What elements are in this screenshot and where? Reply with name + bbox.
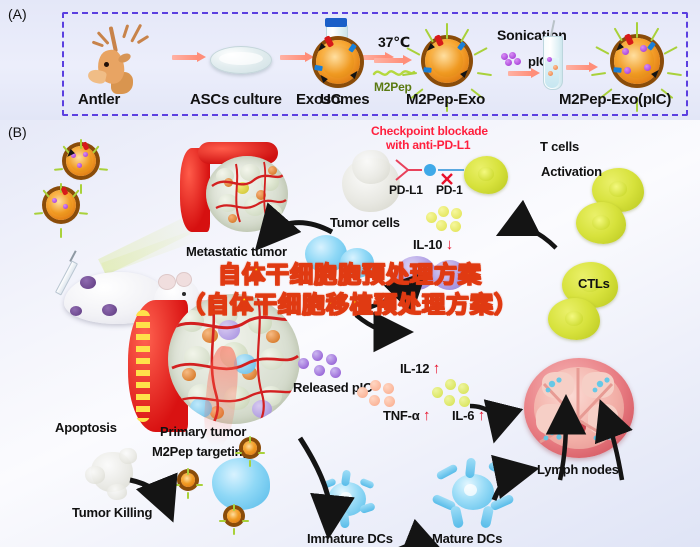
panel-a-tag: (A) [8,6,27,22]
m1-macrophage-2 [432,260,466,290]
il-6-dots-icon [430,378,486,408]
m2-macrophage-2 [340,248,374,278]
metastatic-tumor-label: Metastatic tumor [186,245,287,258]
step-label-exosomes: Exosomes [296,92,369,107]
mature-dc-icon [430,458,516,532]
il-10-name: IL-10 [413,237,442,252]
immature-dcs-label: Immature DCs [307,532,393,545]
arrow-sonication-to-final [566,62,598,72]
arrow-antler-to-asc [172,52,206,62]
activation-label: Activation [541,165,602,178]
t-cell-cluster-2 [576,202,626,244]
tnf-alpha-arrow: ↑ [423,407,430,424]
apoptotic-cell-icon [85,446,145,502]
il-10-arrow: ↓ [446,236,453,253]
free-exosome-icon-2 [38,182,84,228]
metastatic-tumor-icon [178,142,308,250]
panel-a: (A) Antler ASCs culture [0,0,700,120]
il-6-name: IL-6 [452,408,474,423]
step-label-m2pep-exo: M2Pep-Exo [406,92,485,107]
il10-dots-icon [424,204,470,232]
il-12-arrow: ↑ [433,360,440,377]
ctl-cell-2 [548,298,600,340]
arrow-exo-to-m2pepexo [374,55,412,65]
immature-dc-icon [312,468,382,530]
pd-1-label: PD-1 [436,184,463,196]
step-label-m2pep-exo-pic: M2Pep-Exo(pIC) [559,92,671,107]
apoptosis-label: Apoptosis [55,421,117,434]
ctls-label: CTLs [578,277,610,290]
step-label-antler: Antler [78,92,120,107]
mature-dcs-label: Mature DCs [432,532,502,545]
targeting-exosome-3 [222,504,246,528]
il-12-label: IL-12 ↑ [400,361,440,376]
panel-b: (B) [0,120,700,547]
m1-macrophage-1 [396,256,436,290]
t-cell-icon [464,156,508,194]
sonication-tube-icon [543,36,563,90]
panel-b-tag: (B) [8,124,27,140]
figure-canvas: (A) Antler ASCs culture [0,0,700,547]
target-macrophage-icon [212,458,270,510]
targeting-exosome-2 [238,436,262,460]
exosome-icon [306,30,370,94]
checkpoint-blockade-line2: with anti-PD-L1 [386,139,470,151]
tnf-alpha-name: TNF-α [383,408,420,423]
free-exosome-icon-1 [58,138,104,184]
tnf-alpha-label: TNF-α ↑ [383,408,430,423]
deer-icon [78,20,168,90]
tnf-alpha-dots-icon [355,378,411,408]
targeting-exosome-1 [176,468,200,492]
t-cells-label: T cells [540,140,579,153]
lymph-nodes-label: Lymph nodes [537,463,619,476]
primary-tumor-label: Primary tumor [160,425,246,438]
tumor-cell-icon-2 [352,150,390,184]
checkpoint-blockade-line1: Checkpoint blockade [371,125,488,137]
released-pic-dots-icon [296,348,356,380]
il-10-label: IL-10 ↓ [413,237,453,252]
temperature-label: 37℃ [378,35,410,49]
tumor-cells-label: Tumor cells [330,216,400,229]
loaded-exosome-icon [598,22,674,98]
il-12-name: IL-12 [400,361,429,376]
il-6-arrow: ↑ [478,407,485,424]
petri-dish-icon [210,46,272,74]
il-6-label: IL-6 ↑ [452,408,485,423]
pd-l1-label: PD-L1 [389,184,423,196]
lymph-node-icon [524,358,634,458]
step-label-asc-culture: ASCs culture [190,92,282,107]
pic-dots-icon [501,52,527,68]
peptide-exosome-icon [410,24,484,98]
tumor-killing-label: Tumor Killing [72,506,152,519]
arrow-m2pepexo-to-sonication [508,68,540,78]
